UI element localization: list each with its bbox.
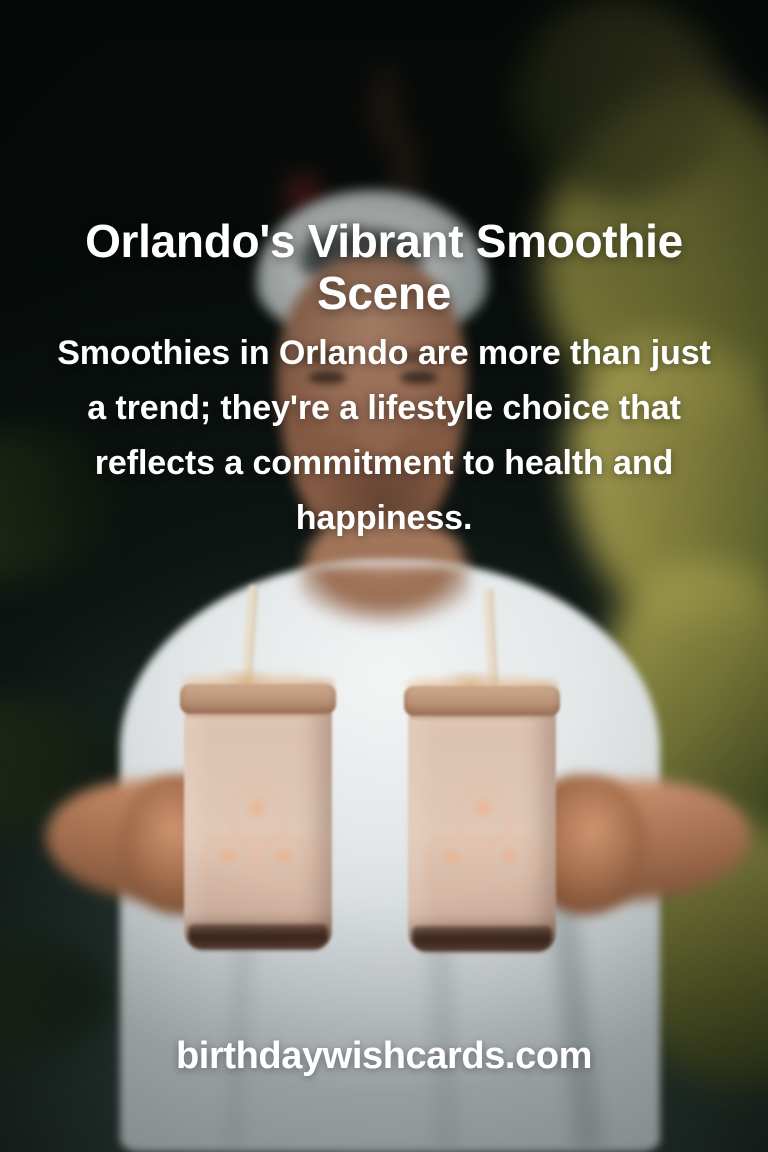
website-watermark: birthdaywishcards.com [0,1035,768,1078]
headline-title: Orlando's Vibrant Smoothie Scene [40,216,728,319]
body-paragraph: Smoothies in Orlando are more than just … [52,326,716,546]
pinterest-style-quote-card: Orlando's Vibrant Smoothie Scene Smoothi… [0,0,768,1152]
text-overlay: Orlando's Vibrant Smoothie Scene Smoothi… [0,0,768,1152]
